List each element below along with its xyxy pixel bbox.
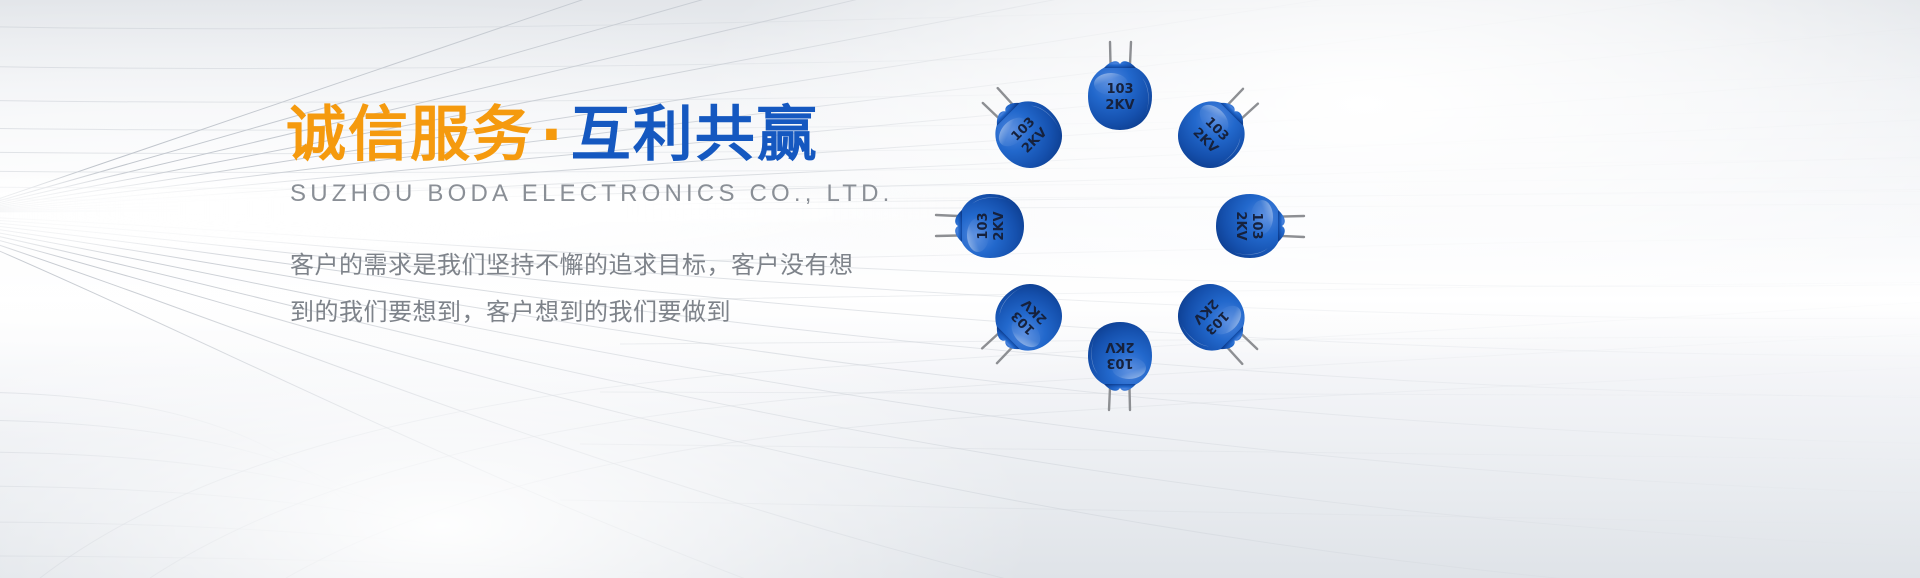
svg-text:103: 103	[976, 212, 991, 239]
capacitor-item: 103 2KV	[967, 271, 1074, 378]
banner-copy: 诚信服务·互利共赢 SUZHOU BODA ELECTRONICS CO., L…	[286, 104, 986, 336]
capacitor-item: 103 2KV	[936, 194, 1024, 258]
headline-blue: 互利共赢	[571, 100, 819, 170]
svg-text:2KV: 2KV	[1105, 98, 1134, 113]
svg-text:103: 103	[1106, 355, 1133, 370]
company-name-english: SUZHOU BODA ELECTRONICS CO., LTD.	[290, 180, 986, 208]
capacitor-item: 103 2KV	[967, 73, 1074, 180]
svg-text:103: 103	[1106, 82, 1133, 97]
capacitor-item: 103 2KV	[1088, 322, 1152, 410]
description-line-1: 客户的需求是我们坚持不懈的追求目标，客户没有想	[290, 242, 986, 289]
capacitor-item: 103 2KV	[1165, 73, 1272, 180]
headline-orange: 诚信服务	[286, 100, 534, 170]
banner-description: 客户的需求是我们坚持不懈的追求目标，客户没有想 到的我们要想到，客户想到的我们要…	[290, 242, 986, 336]
svg-text:2KV: 2KV	[1233, 211, 1248, 240]
capacitor-item: 103 2KV	[1088, 42, 1152, 130]
description-line-2: 到的我们要想到，客户想到的我们要做到	[290, 289, 986, 336]
svg-text:2KV: 2KV	[1105, 339, 1134, 354]
capacitor-ring-graphic: 103 2KV 103	[930, 36, 1310, 416]
page-title: 诚信服务·互利共赢	[286, 104, 986, 166]
svg-text:103: 103	[1249, 212, 1264, 239]
svg-text:2KV: 2KV	[992, 211, 1007, 240]
headline-separator-dot: ·	[534, 100, 571, 170]
capacitor-item: 103 2KV	[1165, 271, 1272, 378]
capacitor-item: 103 2KV	[1216, 194, 1304, 258]
hero-banner: 诚信服务·互利共赢 SUZHOU BODA ELECTRONICS CO., L…	[0, 0, 1920, 578]
